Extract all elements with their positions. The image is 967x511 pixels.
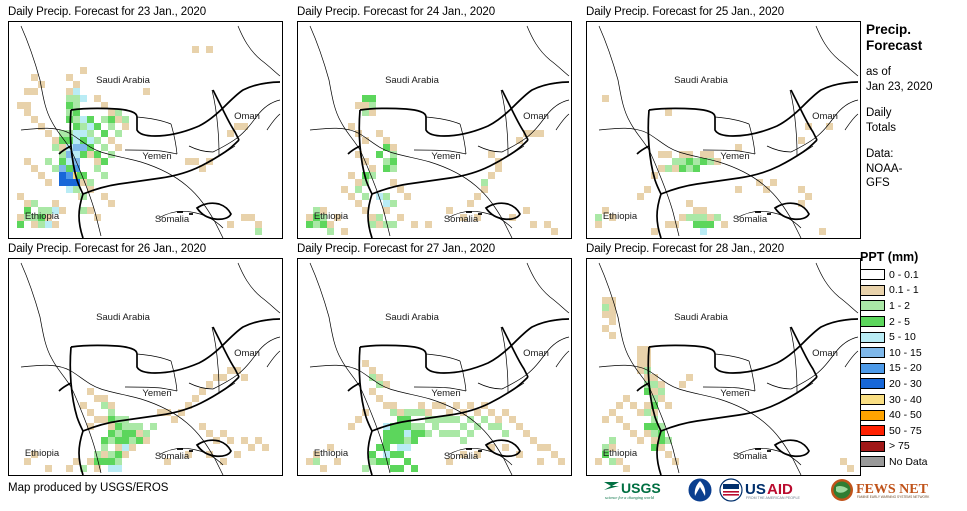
legend-row: 5 - 10 (860, 329, 967, 345)
label-ethiopia: Ethiopia (314, 448, 349, 459)
map-frame[interactable]: Saudi Arabia Oman Yemen Ethiopia Somalia (297, 21, 572, 239)
label-ethiopia: Ethiopia (603, 211, 638, 222)
panel-title: Daily Precip. Forecast for 23 Jan., 2020 (8, 6, 206, 18)
legend-label: 0.1 - 1 (889, 284, 919, 296)
label-ethiopia: Ethiopia (25, 211, 60, 222)
legend-label: 2 - 5 (889, 316, 910, 328)
usgs-logo[interactable]: USGS science for a changing world (603, 478, 681, 502)
legend-row: 50 - 75 (860, 423, 967, 439)
label-yemen: Yemen (720, 388, 749, 399)
legend-swatch (860, 378, 885, 389)
label-yemen: Yemen (431, 388, 460, 399)
info-data-source: Data: NOAA- GFS (866, 147, 967, 192)
info-asof-line2: Jan 23, 2020 (866, 80, 967, 95)
label-saudi-arabia: Saudi Arabia (385, 312, 440, 323)
usaid-logo[interactable]: US AID FROM THE AMERICAN PEOPLE (719, 478, 823, 502)
legend-swatch (860, 300, 885, 311)
map-frame[interactable]: Saudi Arabia Oman Yemen Ethiopia Somalia (8, 21, 283, 239)
legend-swatch (860, 269, 885, 280)
legend-row: No Data (860, 454, 967, 470)
panel-title: Daily Precip. Forecast for 25 Jan., 2020 (586, 6, 784, 18)
legend-swatch (860, 456, 885, 467)
fewsnet-logo[interactable]: FEWS NET FAMINE EARLY WARNING SYSTEMS NE… (830, 478, 942, 502)
precip-legend: PPT (mm) 0 - 0.10.1 - 11 - 22 - 55 - 101… (860, 250, 967, 470)
label-yemen: Yemen (720, 151, 749, 162)
label-oman: Oman (234, 348, 260, 359)
legend-swatch (860, 394, 885, 405)
info-panel: Precip. Forecast as of Jan 23, 2020 Dail… (866, 22, 967, 191)
label-saudi-arabia: Saudi Arabia (96, 312, 151, 323)
legend-row: 2 - 5 (860, 314, 967, 330)
info-data-line1: Data: (866, 147, 967, 162)
info-heading: Precip. Forecast (866, 22, 967, 54)
info-asof-line1: as of (866, 65, 967, 80)
legend-label: 15 - 20 (889, 362, 922, 374)
info-heading-line2: Forecast (866, 38, 967, 54)
svg-text:FROM THE AMERICAN PEOPLE: FROM THE AMERICAN PEOPLE (746, 496, 800, 500)
legend-row: 40 - 50 (860, 407, 967, 423)
label-somalia: Somalia (155, 451, 190, 462)
legend-label: 0 - 0.1 (889, 269, 919, 281)
info-data-line3: GFS (866, 176, 967, 191)
info-totals: Daily Totals (866, 106, 967, 136)
legend-label: No Data (889, 456, 928, 468)
label-saudi-arabia: Saudi Arabia (674, 312, 729, 323)
info-data-line2: NOAA- (866, 162, 967, 177)
legend-swatch (860, 441, 885, 452)
legend-label: 20 - 30 (889, 378, 922, 390)
label-somalia: Somalia (155, 214, 190, 225)
legend-label: 40 - 50 (889, 409, 922, 421)
label-ethiopia: Ethiopia (603, 448, 638, 459)
label-yemen: Yemen (142, 388, 171, 399)
map-credit: Map produced by USGS/EROS (8, 482, 168, 494)
legend-label: 10 - 15 (889, 347, 922, 359)
panel-title: Daily Precip. Forecast for 28 Jan., 2020 (586, 243, 784, 255)
precip-map-24jan: Saudi Arabia Oman Yemen Ethiopia Somalia (298, 22, 571, 238)
precip-map-28jan: Saudi Arabia Oman Yemen Ethiopia Somalia (587, 259, 860, 475)
legend-rows: 0 - 0.10.1 - 11 - 22 - 55 - 1010 - 1515 … (860, 267, 967, 470)
legend-row: 30 - 40 (860, 392, 967, 408)
legend-label: 5 - 10 (889, 331, 916, 343)
legend-swatch (860, 347, 885, 358)
precip-map-27jan: Saudi Arabia Oman Yemen Ethiopia Somalia (298, 259, 571, 475)
label-oman: Oman (523, 348, 549, 359)
svg-text:FAMINE EARLY WARNING SYSTEMS N: FAMINE EARLY WARNING SYSTEMS NETWORK (857, 495, 930, 499)
label-somalia: Somalia (444, 451, 479, 462)
map-frame[interactable]: Saudi Arabia Oman Yemen Ethiopia Somalia (297, 258, 572, 476)
label-saudi-arabia: Saudi Arabia (385, 75, 440, 86)
label-oman: Oman (812, 348, 838, 359)
agency-logos: USGS science for a changing world US AID… (603, 478, 942, 502)
panel-title: Daily Precip. Forecast for 26 Jan., 2020 (8, 243, 206, 255)
legend-swatch (860, 285, 885, 296)
map-frame[interactable]: Saudi Arabia Oman Yemen Ethiopia Somalia (8, 258, 283, 476)
legend-swatch (860, 363, 885, 374)
precip-raster (595, 297, 854, 472)
svg-text:USGS: USGS (621, 480, 661, 496)
legend-row: 20 - 30 (860, 376, 967, 392)
legend-label: 50 - 75 (889, 425, 922, 437)
label-oman: Oman (234, 111, 260, 122)
precip-map-25jan: Saudi Arabia Oman Yemen Ethiopia Somalia (587, 22, 860, 238)
precip-map-23jan: Saudi Arabia Oman Yemen Ethiopia Somalia (9, 22, 282, 238)
noaa-logo[interactable] (688, 478, 712, 502)
legend-label: > 75 (889, 440, 910, 452)
legend-row: 1 - 2 (860, 298, 967, 314)
legend-row: 0.1 - 1 (860, 283, 967, 299)
label-somalia: Somalia (733, 451, 768, 462)
legend-swatch (860, 425, 885, 436)
info-totals-line2: Totals (866, 121, 967, 136)
label-saudi-arabia: Saudi Arabia (96, 75, 151, 86)
info-asof: as of Jan 23, 2020 (866, 65, 967, 95)
svg-text:science for a changing world: science for a changing world (605, 495, 655, 500)
legend-row: 0 - 0.1 (860, 267, 967, 283)
legend-label: 30 - 40 (889, 394, 922, 406)
map-frame[interactable]: Saudi Arabia Oman Yemen Ethiopia Somalia (586, 21, 861, 239)
legend-swatch (860, 316, 885, 327)
label-ethiopia: Ethiopia (25, 448, 60, 459)
legend-swatch (860, 410, 885, 421)
legend-title: PPT (mm) (860, 250, 967, 264)
info-totals-line1: Daily (866, 106, 967, 121)
label-somalia: Somalia (733, 214, 768, 225)
panel-title: Daily Precip. Forecast for 27 Jan., 2020 (297, 243, 495, 255)
legend-row: 15 - 20 (860, 361, 967, 377)
label-oman: Oman (812, 111, 838, 122)
panel-title: Daily Precip. Forecast for 24 Jan., 2020 (297, 6, 495, 18)
label-yemen: Yemen (431, 151, 460, 162)
label-saudi-arabia: Saudi Arabia (674, 75, 729, 86)
info-heading-line1: Precip. (866, 22, 967, 38)
map-frame[interactable]: Saudi Arabia Oman Yemen Ethiopia Somalia (586, 258, 861, 476)
legend-row: 10 - 15 (860, 345, 967, 361)
legend-swatch (860, 332, 885, 343)
admin-boundaries (599, 26, 858, 238)
label-yemen: Yemen (142, 151, 171, 162)
label-oman: Oman (523, 111, 549, 122)
label-ethiopia: Ethiopia (314, 211, 349, 222)
precip-map-26jan: Saudi Arabia Oman Yemen Ethiopia Somalia (9, 259, 282, 475)
legend-label: 1 - 2 (889, 300, 910, 312)
label-somalia: Somalia (444, 214, 479, 225)
legend-row: > 75 (860, 439, 967, 455)
